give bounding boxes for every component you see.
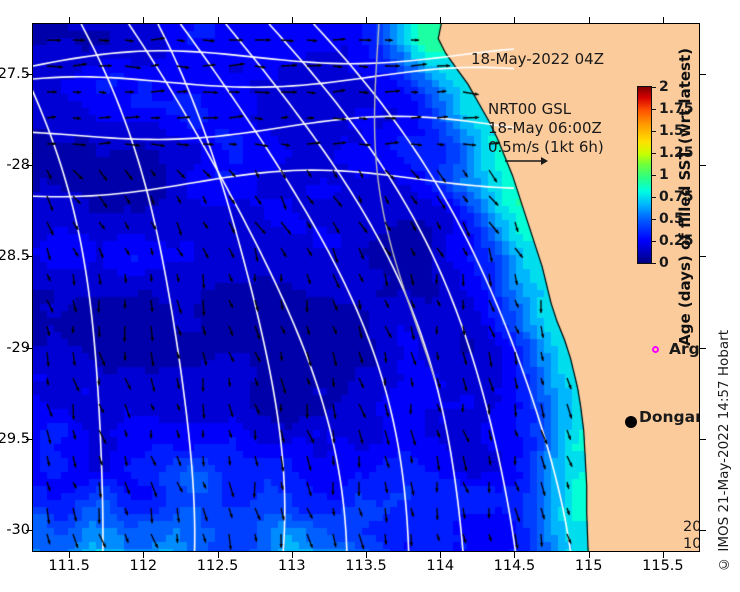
x-tick (143, 17, 144, 23)
x-tick-label: 112 (129, 558, 157, 574)
y-tick (700, 439, 706, 440)
colorbar-tick-label: 0 (659, 255, 669, 271)
colorbar-tick (652, 131, 656, 132)
y-tick-label: -30 (6, 522, 30, 538)
dongara-marker-icon (625, 416, 637, 428)
colorbar-gradient (637, 86, 652, 264)
right-arrow-icon (503, 154, 549, 168)
x-tick-label: 115 (575, 558, 603, 574)
x-tick (218, 17, 219, 23)
colorbar-tick (652, 197, 656, 198)
y-tick-label: -28.5 (0, 248, 30, 264)
x-tick-label: 111.5 (48, 558, 90, 574)
y-tick (700, 530, 706, 531)
x-tick (69, 17, 70, 23)
colorbar-tick-label: 2 (659, 79, 669, 95)
x-tick (663, 17, 664, 23)
colorbar-tick (652, 219, 656, 220)
colorbar-tick (652, 109, 656, 110)
colorbar-tick (652, 175, 656, 176)
y-tick-label: -28 (6, 157, 30, 173)
y-tick-label: -27.5 (0, 66, 30, 82)
x-tick (440, 17, 441, 23)
x-tick (292, 17, 293, 23)
y-tick (700, 74, 706, 75)
argo-marker-icon (652, 346, 659, 353)
y-tick-label: -29 (6, 340, 30, 356)
vector-legend-line2: 18-May 06:00Z (488, 119, 604, 138)
vector-legend-line1: NRT00 GSL (488, 100, 604, 119)
bathymetry-label-200m: 200m (683, 519, 700, 536)
y-tick (700, 348, 706, 349)
date-stamp: 18-May-2022 04Z (471, 50, 604, 68)
vector-legend: NRT00 GSL 18-May 06:00Z 0.5m/s (1kt 6h) (488, 100, 604, 157)
colorbar-tick (652, 87, 656, 88)
x-tick (366, 17, 367, 23)
colorbar-tick (652, 153, 656, 154)
bathymetry-label-1000m: 1000m (683, 536, 700, 552)
x-tick-label: 113.5 (345, 558, 387, 574)
colorbar-title: Age (days) of filled SST (wrt latest) (676, 48, 694, 346)
dongara-label: Dongara (639, 408, 700, 426)
x-tick-label: 114.5 (494, 558, 536, 574)
colorbar-tick (652, 263, 656, 264)
x-tick-label: 112.5 (197, 558, 239, 574)
x-tick-label: 113 (278, 558, 306, 574)
map-plot-area: 18-May-2022 04Z NRT00 GSL 18-May 06:00Z … (32, 23, 700, 552)
colorbar-tick (652, 241, 656, 242)
x-tick (514, 17, 515, 23)
x-tick-label: 115.5 (642, 558, 684, 574)
colorbar-tick-label: 1 (659, 167, 669, 183)
x-tick-label: 114 (426, 558, 454, 574)
credit-text: © IMOS 21-May-2022 14:57 Hobart (716, 330, 732, 572)
y-tick-label: -29.5 (0, 431, 30, 447)
y-tick (700, 256, 706, 257)
y-tick (700, 165, 706, 166)
colorbar: 21.751.51.2510.750.50.250 (637, 86, 652, 264)
bathymetry-legend: 200m 1000m (683, 519, 700, 552)
x-tick (589, 17, 590, 23)
